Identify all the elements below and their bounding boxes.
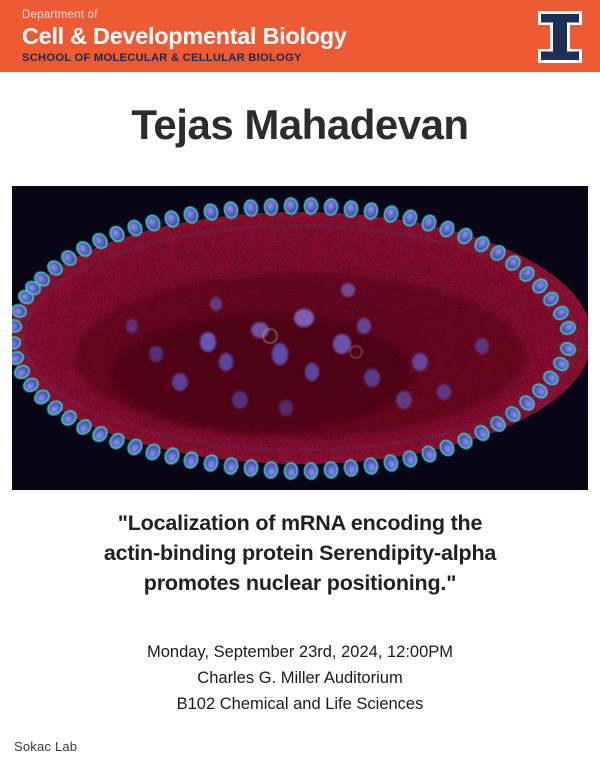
event-details: Monday, September 23rd, 2024, 12:00PM Ch… [30,639,570,717]
embryo-micrograph [12,186,588,490]
talk-title-line-1: "Localization of mRNA encoding the [30,508,570,538]
banner-eyebrow: Department of [22,8,347,22]
block-i-logo [532,8,588,66]
banner-text-block: Department of Cell & Developmental Biolo… [22,8,347,66]
event-venue: Charles G. Miller Auditorium [30,665,570,691]
talk-title-line-3: promotes nuclear positioning." [30,568,570,598]
department-banner: Department of Cell & Developmental Biolo… [0,0,600,72]
talk-title: "Localization of mRNA encoding the actin… [30,508,570,598]
speaker-name: Tejas Mahadevan [0,99,600,151]
event-datetime: Monday, September 23rd, 2024, 12:00PM [30,639,570,665]
lab-credit: Sokac Lab [14,739,77,754]
talk-title-line-2: actin-binding protein Serendipity-alpha [30,538,570,568]
event-address: B102 Chemical and Life Sciences [30,691,570,717]
department-title: Cell & Developmental Biology [22,23,347,50]
school-subtitle: SCHOOL OF MOLECULAR & CELLULAR BIOLOGY [22,51,347,66]
